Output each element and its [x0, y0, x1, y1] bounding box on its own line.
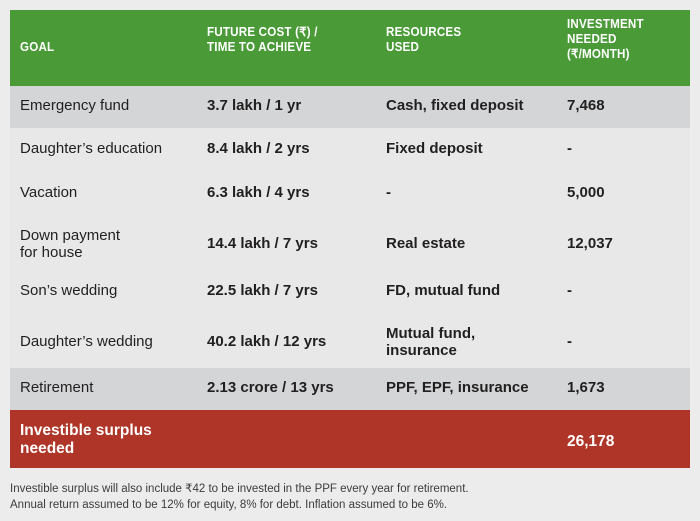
cell-future-cost: 40.2 lakh / 12 yrs — [207, 333, 326, 350]
cell-future-cost: 8.4 lakh / 2 yrs — [207, 140, 310, 157]
table-row: Emergency fund 3.7 lakh / 1 yr Cash, fix… — [10, 86, 690, 128]
cell-investment: - — [567, 282, 572, 299]
cell-goal: Son’s wedding — [20, 282, 117, 299]
cell-future-cost: 22.5 lakh / 7 yrs — [207, 282, 318, 299]
table-row: Daughter’s wedding 40.2 lakh / 12 yrs Mu… — [10, 314, 690, 368]
cell-goal: Daughter’s education — [20, 140, 162, 157]
cell-future-cost: 6.3 lakh / 4 yrs — [207, 184, 310, 201]
cell-investment: 5,000 — [567, 184, 605, 201]
cell-goal: Daughter’s wedding — [20, 333, 153, 350]
cell-resources: FD, mutual fund — [386, 282, 500, 299]
cell-goal: Down payment for house — [20, 227, 120, 261]
cell-investment: 1,673 — [567, 379, 605, 396]
table-row: Daughter’s education 8.4 lakh / 2 yrs Fi… — [10, 128, 690, 172]
goals-table-page: GOAL FUTURE COST (₹) / TIME TO ACHIEVE R… — [0, 0, 700, 521]
column-header-investment-needed: INVESTMENT NEEDED (₹/MONTH) — [567, 17, 644, 62]
table-row: Retirement 2.13 crore / 13 yrs PPF, EPF,… — [10, 368, 690, 410]
cell-resources: Mutual fund, insurance — [386, 325, 475, 359]
cell-goal: Emergency fund — [20, 97, 129, 114]
table-row: Vacation 6.3 lakh / 4 yrs - 5,000 — [10, 172, 690, 216]
column-header-future-cost: FUTURE COST (₹) / TIME TO ACHIEVE — [207, 25, 318, 55]
footnote: Investible surplus will also include ₹42… — [10, 481, 690, 513]
cell-resources: PPF, EPF, insurance — [386, 379, 529, 396]
table-row: Down payment for house 14.4 lakh / 7 yrs… — [10, 216, 690, 270]
table-row: Son’s wedding 22.5 lakh / 7 yrs FD, mutu… — [10, 270, 690, 314]
total-row-label: Investible surplus needed — [20, 422, 152, 458]
cell-goal: Retirement — [20, 379, 93, 396]
cell-resources: - — [386, 184, 391, 201]
cell-resources: Cash, fixed deposit — [386, 97, 524, 114]
cell-goal: Vacation — [20, 184, 77, 201]
total-row-investible-surplus: Investible surplus needed 26,178 — [10, 410, 690, 468]
cell-investment: 7,468 — [567, 97, 605, 114]
footnote-line-1: Investible surplus will also include ₹42… — [10, 481, 690, 497]
cell-investment: - — [567, 333, 572, 350]
cell-future-cost: 3.7 lakh / 1 yr — [207, 97, 301, 114]
cell-investment: 12,037 — [567, 235, 613, 252]
cell-investment: - — [567, 140, 572, 157]
column-header-goal: GOAL — [20, 40, 54, 55]
financial-goals-table: GOAL FUTURE COST (₹) / TIME TO ACHIEVE R… — [10, 10, 690, 468]
column-header-resources-used: RESOURCES USED — [386, 25, 461, 55]
cell-resources: Fixed deposit — [386, 140, 483, 157]
cell-resources: Real estate — [386, 235, 465, 252]
table-header-row: GOAL FUTURE COST (₹) / TIME TO ACHIEVE R… — [10, 10, 690, 86]
footnote-line-2: Annual return assumed to be 12% for equi… — [10, 497, 690, 513]
total-row-amount: 26,178 — [567, 433, 614, 451]
cell-future-cost: 14.4 lakh / 7 yrs — [207, 235, 318, 252]
cell-future-cost: 2.13 crore / 13 yrs — [207, 379, 334, 396]
